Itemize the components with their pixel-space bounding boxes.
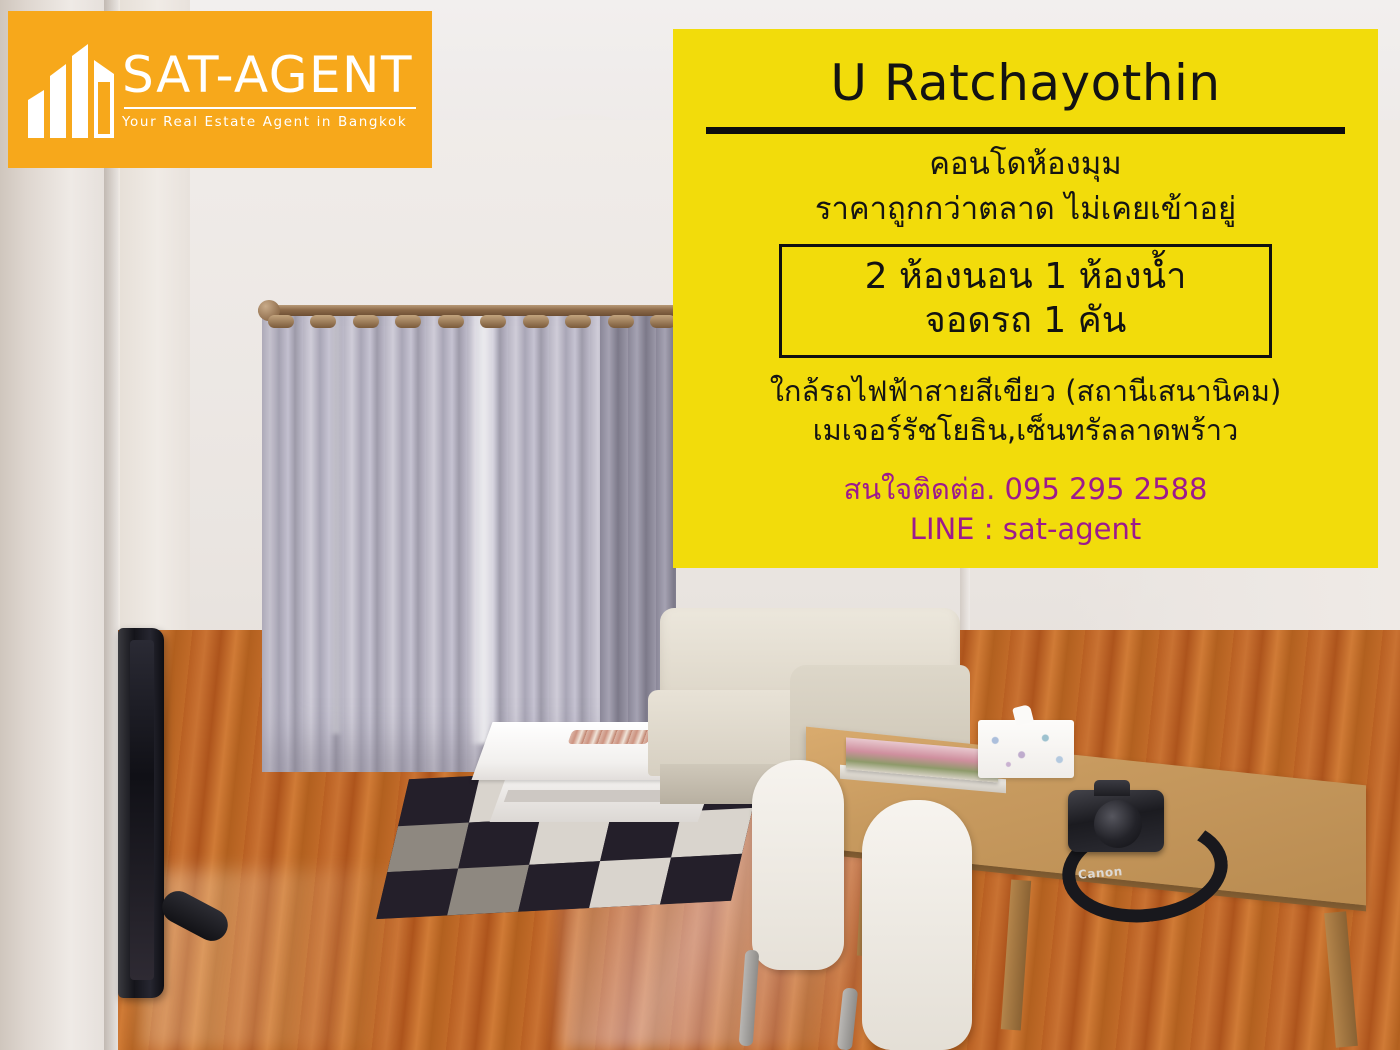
- tv-screen: [130, 640, 154, 980]
- logo-text-group: SAT-AGENT Your Real Estate Agent in Bang…: [122, 50, 416, 130]
- tissue-box-pattern: [982, 726, 1070, 774]
- white-dining-chair-second: [862, 800, 972, 1050]
- title-divider: [706, 127, 1345, 134]
- spec-parking: จอดรถ 1 คัน: [792, 299, 1259, 343]
- curtain-highlight-left: [330, 314, 342, 734]
- camera-viewfinder-hump: [1094, 780, 1130, 796]
- building-skyline-icon: [24, 38, 116, 142]
- white-dining-chair-front: [752, 760, 844, 970]
- spec-rooms: 2 ห้องนอน 1 ห้องน้ำ: [792, 255, 1259, 299]
- location-line-1: ใกล้รถไฟฟ้าสายสีเขียว (สถานีเสนานิคม): [701, 372, 1350, 411]
- subtitle-line-1: คอนโดห้องมุม: [701, 144, 1350, 185]
- location-line-2: เมเจอร์รัชโยธิน,เซ็นทรัลลาดพร้าว: [701, 411, 1350, 450]
- subtitle-line-2: ราคาถูกกว่าตลาด ไม่เคยเข้าอยู่: [701, 189, 1350, 230]
- listing-info-panel: U Ratchayothin คอนโดห้องมุม ราคาถูกกว่าต…: [673, 29, 1378, 568]
- coffee-table-decor: [567, 730, 652, 744]
- camera-lens-icon: [1094, 800, 1142, 848]
- curtain-grommets: [268, 310, 676, 332]
- advertisement-poster: Canon SAT-AGENT Your Real Estate Agent i…: [0, 0, 1400, 1050]
- page-title: U Ratchayothin: [701, 57, 1350, 110]
- curtain-highlight: [470, 314, 498, 744]
- logo-brand-name: SAT-AGENT: [122, 50, 416, 100]
- logo-tagline: Your Real Estate Agent in Bangkok: [122, 114, 416, 130]
- contact-phone[interactable]: สนใจติดต่อ. 095 295 2588: [701, 469, 1350, 510]
- logo-divider: [124, 107, 416, 109]
- contact-line-id[interactable]: LINE : sat-agent: [701, 509, 1350, 550]
- property-specs-box: 2 ห้องนอน 1 ห้องน้ำ จอดรถ 1 คัน: [779, 244, 1272, 358]
- sat-agent-logo[interactable]: SAT-AGENT Your Real Estate Agent in Bang…: [8, 11, 432, 168]
